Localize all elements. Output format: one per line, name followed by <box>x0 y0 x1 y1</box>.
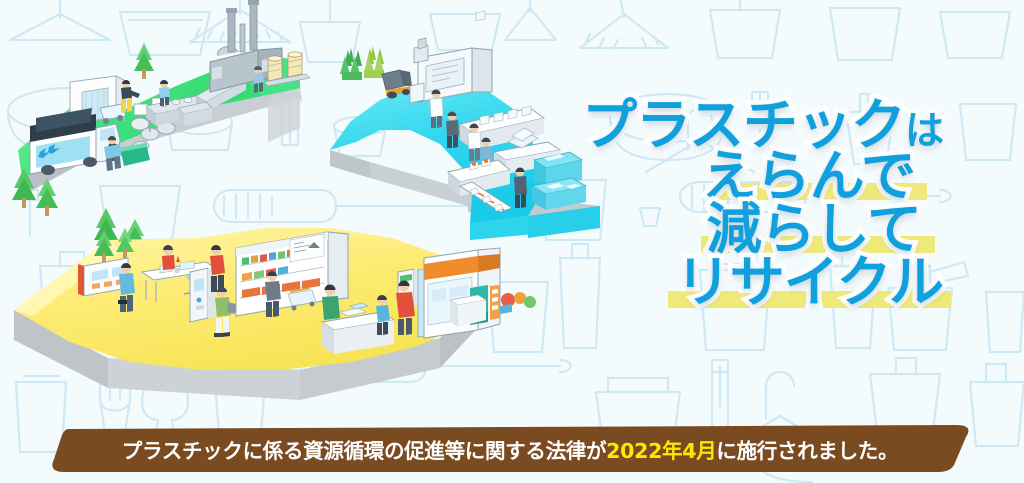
green-scene-props <box>12 0 310 253</box>
circulation-illustration <box>0 0 640 420</box>
convenience-store <box>418 248 500 338</box>
ribbon-text-before: プラスチックに係る資源循環の促進等に関する法律が <box>122 434 606 464</box>
ribbon-text: プラスチックに係る資源循環の促進等に関する法律が2022年4月に施行されました。 <box>46 425 974 472</box>
headline-block: プラスチックは えらんで 減らして リサイクル <box>575 98 945 368</box>
headline-line-4-main: リサイクル <box>676 255 943 310</box>
headline-line-2-main: えらんで <box>702 149 915 204</box>
headline-line-3-main: 減らして <box>707 202 921 257</box>
ribbon-text-highlight: 2022年4月 <box>606 434 716 464</box>
law-notice-ribbon: プラスチックに係る資源循環の促進等に関する法律が2022年4月に施行されました。 <box>46 425 974 472</box>
store-goods <box>500 292 536 314</box>
headline-line-4: リサイクル <box>676 255 943 310</box>
forklift <box>382 70 412 99</box>
banner-root: プラスチックは えらんで 減らして リサイクル プラスチックに係る資源循環の促進… <box>0 0 1024 483</box>
plants <box>340 46 384 80</box>
headline-line-2: えらんで <box>702 149 915 204</box>
headline-line-3: 減らして <box>707 202 921 257</box>
ribbon-text-after: に施行されました。 <box>716 434 898 464</box>
